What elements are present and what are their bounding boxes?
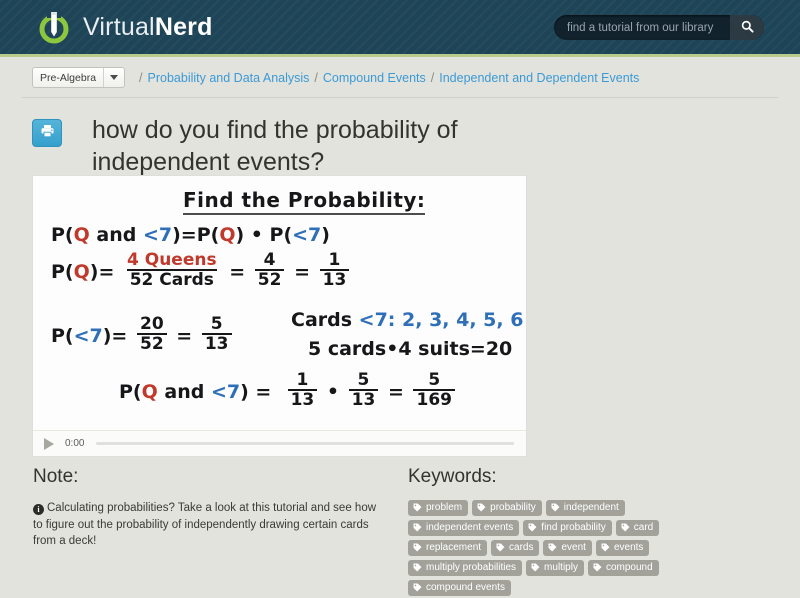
breadcrumb-separator-0: / bbox=[139, 71, 142, 85]
tag-icon bbox=[593, 563, 602, 572]
keyword-tag[interactable]: events bbox=[596, 540, 649, 556]
board-line-2: P(Q)= 4 Queens 52 Cards = 4 52 = 1 13 bbox=[51, 254, 352, 291]
tag-icon bbox=[531, 563, 540, 572]
tag-icon bbox=[496, 543, 505, 552]
board-line-4: P(Q and <7) = 1 13 • 5 13 = 5 169 bbox=[119, 374, 458, 411]
keyword-tag-label: compound bbox=[606, 562, 653, 573]
print-button[interactable] bbox=[32, 119, 62, 147]
player-controls: 0:00 bbox=[33, 430, 526, 456]
search-button[interactable] bbox=[730, 15, 764, 40]
board-l4-f1-num: 1 bbox=[293, 372, 311, 389]
board-l2-f2-den: 52 bbox=[255, 269, 285, 289]
printer-icon bbox=[40, 124, 55, 143]
search-box[interactable] bbox=[554, 15, 764, 40]
chevron-down-icon bbox=[103, 68, 124, 87]
logo-text-nerd: Nerd bbox=[155, 13, 213, 41]
tag-icon bbox=[621, 523, 630, 532]
board-l3-f2-den: 13 bbox=[202, 333, 232, 353]
keyword-tag-label: independent events bbox=[426, 522, 513, 533]
keyword-tag[interactable]: compound bbox=[588, 560, 659, 576]
tag-icon bbox=[413, 523, 422, 532]
board-l2-f1-num: 4 Queens bbox=[124, 252, 220, 269]
search-icon bbox=[741, 20, 754, 36]
keyword-tag-label: cards bbox=[509, 542, 533, 553]
keyword-tag[interactable]: probability bbox=[472, 500, 542, 516]
tag-icon bbox=[413, 503, 422, 512]
board-l3-eq1: = bbox=[176, 325, 192, 347]
board-l4-f2-num: 5 bbox=[355, 372, 373, 389]
board-l2-eq1: = bbox=[229, 261, 245, 283]
board-line-3: P(<7)= 20 52 = 5 13 bbox=[51, 318, 235, 355]
keyword-tag-label: compound events bbox=[426, 582, 505, 593]
keyword-tag[interactable]: problem bbox=[408, 500, 468, 516]
note-body-text: Calculating probabilities? Take a look a… bbox=[33, 502, 376, 547]
subject-dropdown[interactable]: Pre-Algebra bbox=[32, 67, 125, 88]
tag-icon bbox=[528, 523, 537, 532]
note-body-wrap: iCalculating probabilities? Take a look … bbox=[33, 500, 388, 550]
keyword-tag[interactable]: independent bbox=[546, 500, 625, 516]
keyword-tag[interactable]: multiply bbox=[526, 560, 584, 576]
video-player[interactable]: Find the Probability: P(Q and <7)=P(Q) •… bbox=[33, 176, 526, 456]
keyword-tag-label: card bbox=[634, 522, 653, 533]
tag-icon bbox=[548, 543, 557, 552]
tag-icon bbox=[413, 583, 422, 592]
keyword-tag-label: multiply bbox=[544, 562, 578, 573]
keywords-section: Keywords: problemprobabilityindependenti… bbox=[408, 466, 768, 596]
board-l2-f2-num: 4 bbox=[261, 252, 279, 269]
board-line2-label: )= bbox=[90, 261, 115, 283]
breadcrumb-item-1[interactable]: Compound Events bbox=[323, 71, 426, 85]
keyword-tag[interactable]: replacement bbox=[408, 540, 487, 556]
logo-text: VirtualNerd bbox=[83, 13, 213, 42]
board-l4-f3-den: 169 bbox=[413, 389, 455, 409]
tag-icon bbox=[477, 503, 486, 512]
play-icon[interactable] bbox=[44, 438, 54, 450]
keyword-tag-label: problem bbox=[426, 502, 462, 513]
board-l2-f3-num: 1 bbox=[326, 252, 344, 269]
player-progress-bar[interactable] bbox=[96, 442, 514, 445]
board-l2-eq2: = bbox=[294, 261, 310, 283]
board-l4-f1-den: 13 bbox=[288, 389, 318, 409]
note-section: Note: iCalculating probabilities? Take a… bbox=[33, 466, 388, 550]
tag-icon bbox=[413, 543, 422, 552]
keywords-list: problemprobabilityindependentindependent… bbox=[408, 500, 698, 596]
breadcrumb: Pre-Algebra / Probability and Data Analy… bbox=[22, 57, 778, 98]
keyword-tag-label: replacement bbox=[426, 542, 481, 553]
title-row: how do you find the probability of indep… bbox=[22, 114, 778, 178]
tag-icon bbox=[551, 503, 560, 512]
keyword-tag[interactable]: compound events bbox=[408, 580, 511, 596]
board-l4-eq: = bbox=[388, 381, 404, 403]
board-l3-f1-num: 20 bbox=[137, 316, 167, 333]
info-icon: i bbox=[33, 504, 44, 515]
breadcrumb-item-2[interactable]: Independent and Dependent Events bbox=[439, 71, 639, 85]
breadcrumb-item-0[interactable]: Probability and Data Analysis bbox=[148, 71, 310, 85]
board-l4-f2-den: 13 bbox=[349, 389, 379, 409]
board-line-3-right-a: Cards <7: 2, 3, 4, 5, 6 bbox=[291, 309, 523, 331]
keyword-tag[interactable]: event bbox=[543, 540, 591, 556]
keyword-tag-label: event bbox=[561, 542, 585, 553]
page-title: how do you find the probability of indep… bbox=[92, 114, 562, 178]
board-l3-f2-num: 5 bbox=[208, 316, 226, 333]
subject-dropdown-label: Pre-Algebra bbox=[40, 72, 96, 84]
keywords-heading: Keywords: bbox=[408, 466, 768, 488]
board-l3-f1-den: 52 bbox=[137, 333, 167, 353]
pencil-power-logo-icon bbox=[36, 9, 72, 45]
keyword-tag[interactable]: find probability bbox=[523, 520, 611, 536]
whiteboard-video-frame[interactable]: Find the Probability: P(Q and <7)=P(Q) •… bbox=[33, 176, 526, 430]
board-l2-f1-den: 52 Cards bbox=[127, 269, 217, 289]
keyword-tag-label: probability bbox=[490, 502, 536, 513]
board-heading: Find the Probability: bbox=[183, 188, 425, 215]
keyword-tag-label: find probability bbox=[541, 522, 605, 533]
keyword-tag-label: events bbox=[614, 542, 643, 553]
keyword-tag[interactable]: card bbox=[616, 520, 659, 536]
board-l4-f3-num: 5 bbox=[425, 372, 443, 389]
keyword-tag-label: multiply probabilities bbox=[426, 562, 516, 573]
keyword-tag[interactable]: independent events bbox=[408, 520, 519, 536]
note-heading: Note: bbox=[33, 466, 388, 488]
logo-text-virtual: Virtual bbox=[83, 13, 155, 41]
breadcrumb-separator-2: / bbox=[431, 71, 434, 85]
tag-icon bbox=[601, 543, 610, 552]
keyword-tag[interactable]: cards bbox=[491, 540, 539, 556]
keyword-tag[interactable]: multiply probabilities bbox=[408, 560, 522, 576]
board-line-1: P(Q and <7)=P(Q) • P(<7) bbox=[51, 224, 330, 246]
breadcrumb-separator-1: / bbox=[314, 71, 317, 85]
board-l4-dot: • bbox=[327, 381, 339, 403]
board-line-3-right-b: 5 cards•4 suits=20 bbox=[308, 338, 512, 360]
search-input[interactable] bbox=[554, 22, 730, 34]
tag-icon bbox=[413, 563, 422, 572]
site-logo[interactable]: VirtualNerd bbox=[36, 9, 213, 45]
board-l2-f3-den: 13 bbox=[320, 269, 350, 289]
player-time: 0:00 bbox=[65, 438, 84, 449]
keyword-tag-label: independent bbox=[564, 502, 619, 513]
site-header: VirtualNerd bbox=[0, 0, 800, 57]
